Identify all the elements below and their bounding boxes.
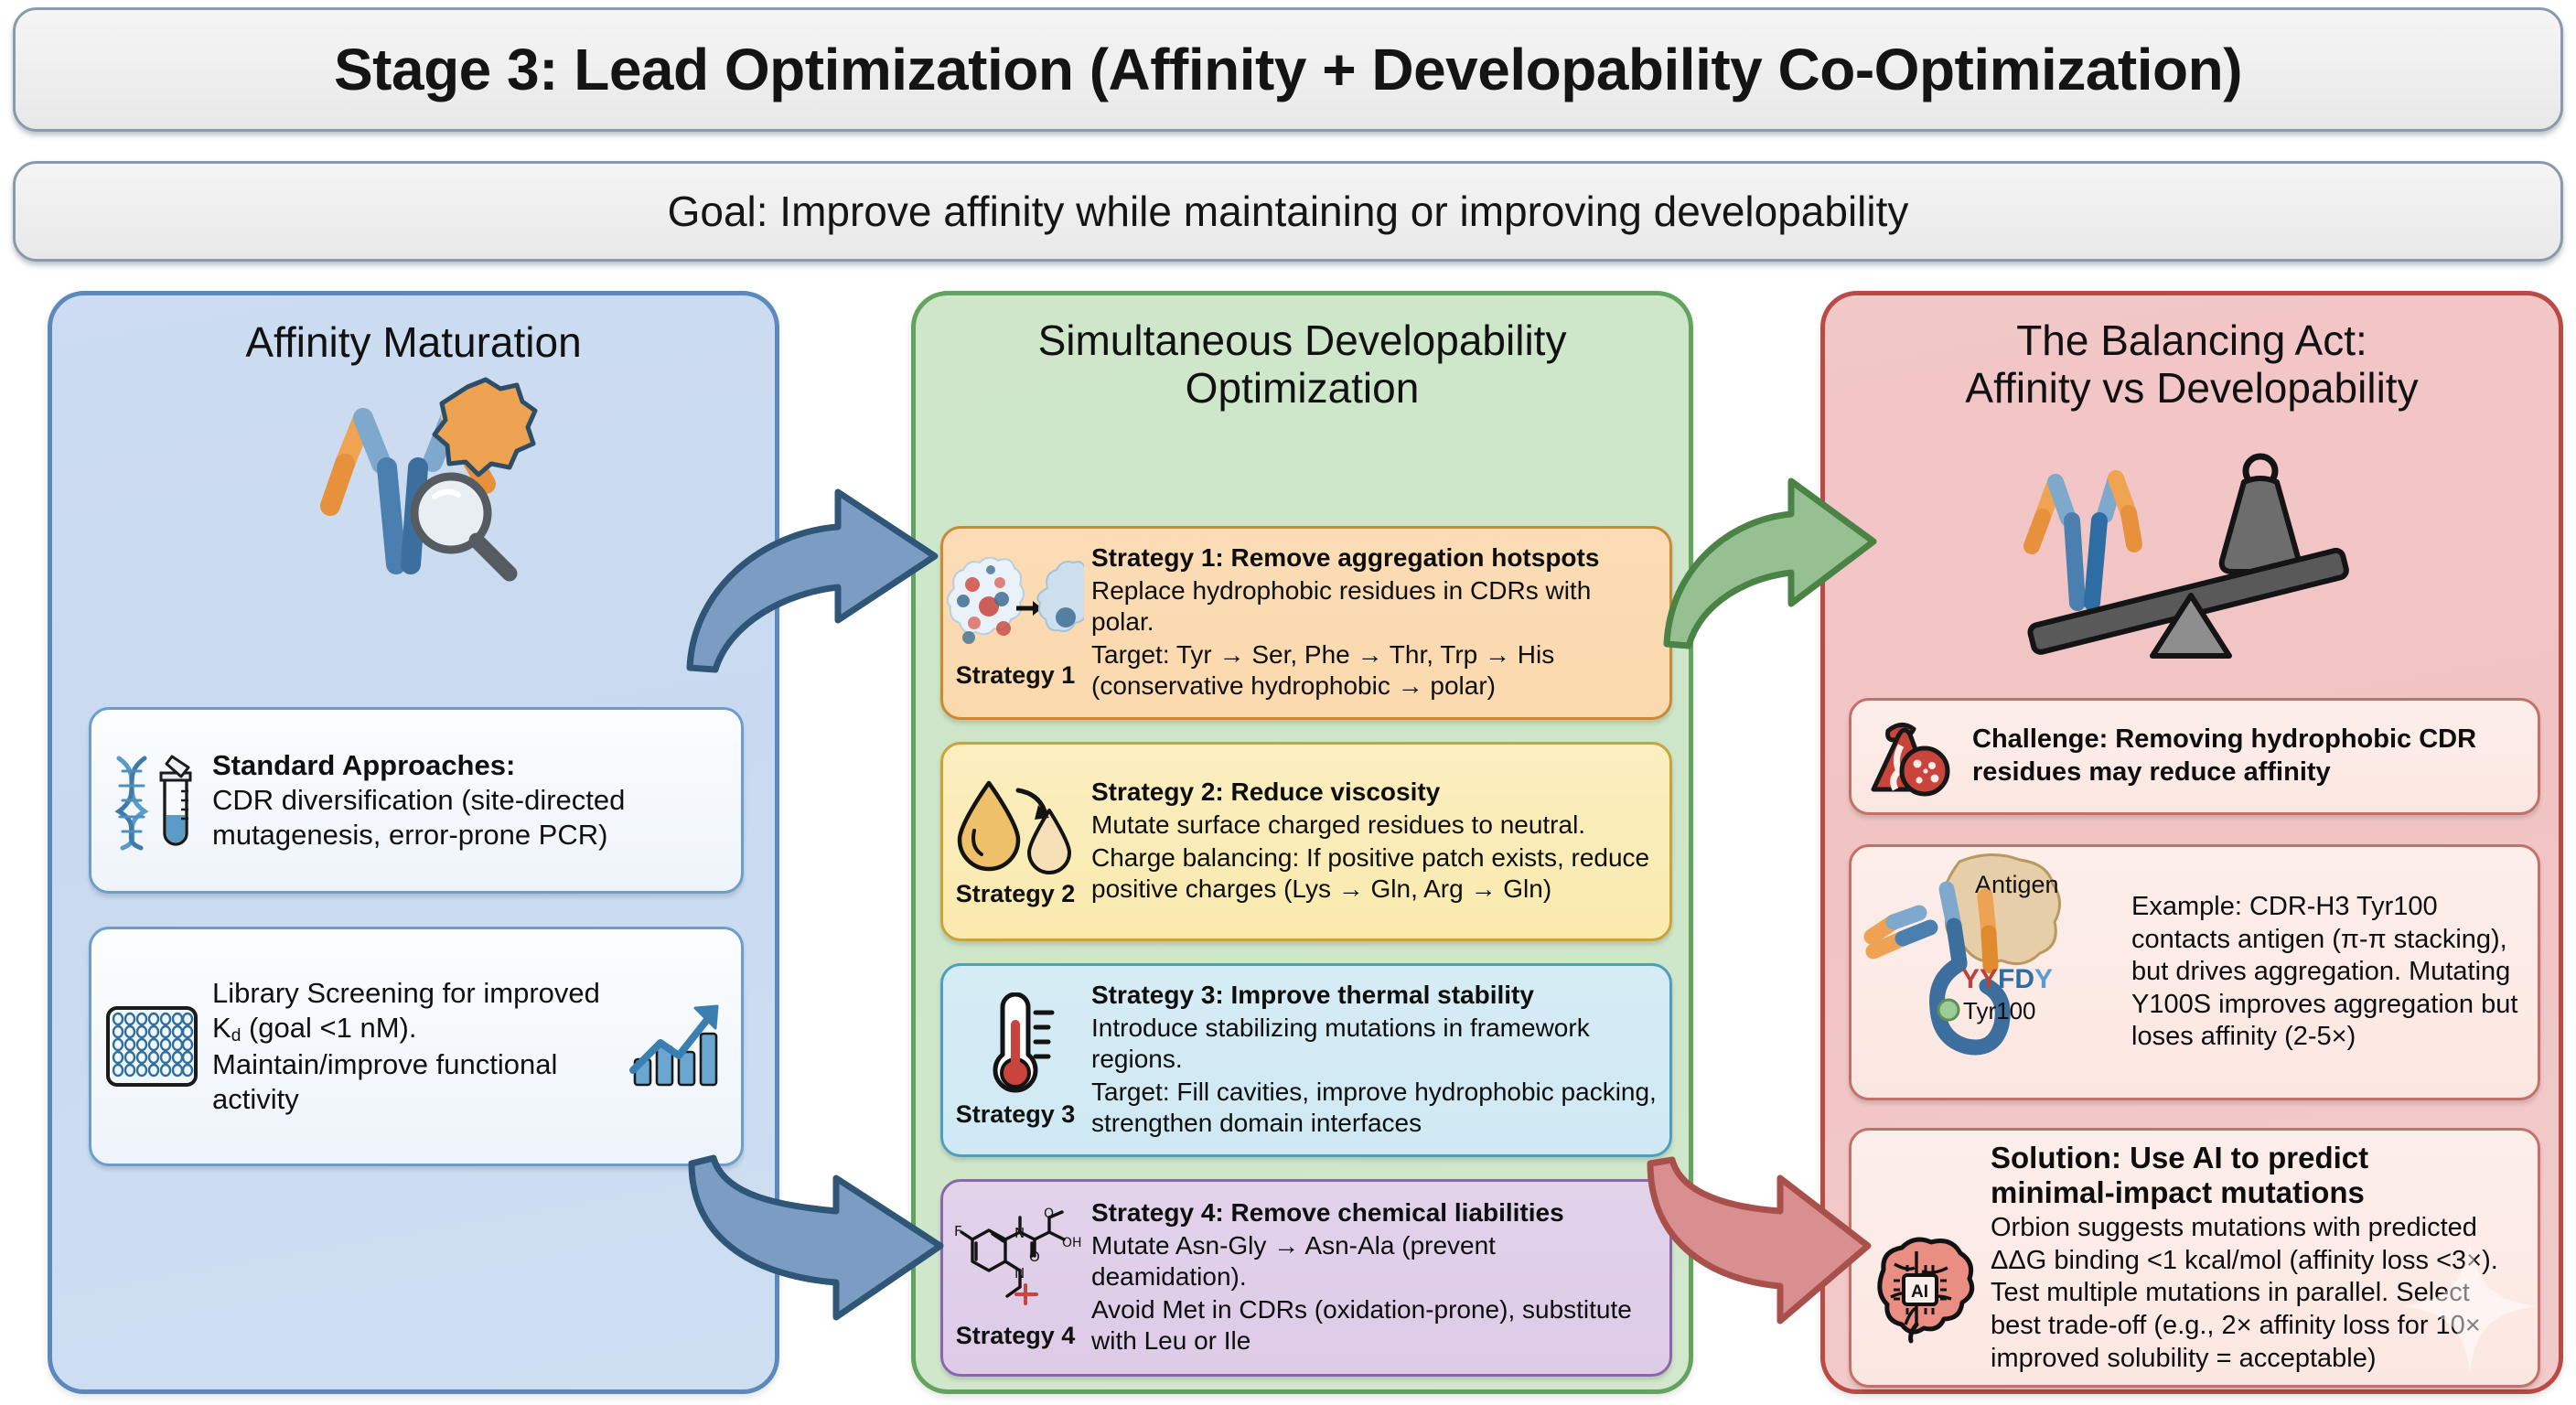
standard-approaches-line-1: CDR diversification (site-directed xyxy=(212,783,728,818)
column-title-developability-line-2: Optimization xyxy=(927,365,1678,413)
solution-heading-line-2: minimal-impact mutations xyxy=(1991,1175,2525,1210)
challenge-text: Challenge: Removing hydrophobic CDR resi… xyxy=(1972,724,2538,788)
viscosity-droplet-icon xyxy=(947,776,1084,878)
svg-text:YYFDY: YYFDY xyxy=(1961,964,2053,994)
card-strategy-1: Strategy 1 Strategy 1: Remove aggregatio… xyxy=(940,526,1672,720)
solution-text: Orbion suggests mutations with predicted… xyxy=(1991,1212,2525,1375)
strategy-3-heading: Strategy 3: Improve thermal stability xyxy=(1091,980,1657,1011)
strategy-1-label: Strategy 1 xyxy=(956,661,1076,690)
card-challenge: Challenge: Removing hydrophobic CDR resi… xyxy=(1849,698,2540,815)
dna-test-tube-icon xyxy=(104,749,199,852)
ai-brain-icon: AI xyxy=(1863,1237,1977,1345)
svg-text:Tyr100: Tyr100 xyxy=(1963,997,2036,1024)
strategy-2-body-1: Mutate surface charged residues to neutr… xyxy=(1091,810,1657,841)
strategy-3-body-2: Target: Fill cavities, improve hydrophob… xyxy=(1091,1077,1657,1139)
strategy-4-body-2: Avoid Met in CDRs (oxidation-prone), sub… xyxy=(1091,1294,1657,1357)
svg-text:N: N xyxy=(1014,1225,1025,1241)
library-screening-text-suffix: (goal <1 nM). Maintain/improve functiona… xyxy=(212,1012,557,1114)
strategy-1-body-1: Replace hydrophobic residues in CDRs wit… xyxy=(1091,575,1657,638)
card-example: Antigen Tyr100 xyxy=(1849,844,2540,1100)
card-strategy-2: Strategy 2 Strategy 2: Reduce viscosity … xyxy=(940,742,1672,941)
svg-text:OH: OH xyxy=(1062,1236,1082,1250)
strategy-1-heading: Strategy 1: Remove aggregation hotspots xyxy=(1091,542,1657,574)
solution-heading-line-1: Solution: Use AI to predict xyxy=(1991,1141,2525,1175)
strategy-2-body-2: Charge balancing: If positive patch exis… xyxy=(1091,842,1657,905)
goal-banner: Goal: Improve affinity while maintaining… xyxy=(13,161,2563,262)
standard-approaches-heading: Standard Approaches: xyxy=(212,748,728,783)
column-affinity-maturation: Affinity Maturation xyxy=(48,291,779,1394)
card-standard-approaches: Standard Approaches: CDR diversification… xyxy=(89,707,744,894)
goal-text: Goal: Improve affinity while maintaining… xyxy=(668,187,1909,236)
column-title-balancing-line-1: The Balancing Act: xyxy=(1836,317,2548,365)
card-solution: AI Solution: Use AI to predict minimal-i… xyxy=(1849,1128,2540,1388)
strategy-4-label: Strategy 4 xyxy=(956,1322,1076,1350)
standard-approaches-line-2: mutagenesis, error-prone PCR) xyxy=(212,818,728,853)
antibody-antigen-icon: Antigen Tyr100 xyxy=(1851,849,2126,1098)
card-strategy-3: Strategy 3 Strategy 3: Improve thermal s… xyxy=(940,963,1672,1157)
column-title-affinity: Affinity Maturation xyxy=(52,295,775,367)
card-strategy-4: F N N O O OH Strategy 4 Strategy 4: Remo… xyxy=(940,1179,1672,1377)
column-title-developability: Simultaneous Developability Optimization xyxy=(916,295,1689,412)
microplate-icon xyxy=(104,1003,199,1090)
strategy-4-heading: Strategy 4: Remove chemical liabilities xyxy=(1091,1197,1657,1228)
example-text: Example: CDR-H3 Tyr100 contacts antigen … xyxy=(2126,891,2538,1054)
strategy-3-body-1: Introduce stabilizing mutations in frame… xyxy=(1091,1013,1657,1075)
chemical-structure-icon: F N N O O OH xyxy=(947,1207,1084,1320)
strategy-1-body-2: Target: Tyr → Ser, Phe → Thr, Trp → His … xyxy=(1091,639,1657,702)
svg-text:O: O xyxy=(1029,1249,1040,1265)
library-screening-subscript: d xyxy=(231,1026,241,1046)
strategy-2-label: Strategy 2 xyxy=(956,880,1076,908)
growth-chart-icon xyxy=(626,999,728,1094)
strategy-4-body-1: Mutate Asn-Gly → Asn-Ala (prevent deamid… xyxy=(1091,1230,1657,1292)
page-title: Stage 3: Lead Optimization (Affinity + D… xyxy=(334,36,2242,103)
aggregation-mountain-icon xyxy=(1864,713,1959,800)
card-library-screening: Library Screening for improved Kd (goal … xyxy=(89,927,744,1166)
svg-text:F: F xyxy=(954,1223,962,1239)
column-developability-optimization: Simultaneous Developability Optimization xyxy=(911,291,1693,1394)
antibody-magnifier-icon xyxy=(297,376,544,586)
title-banner: Stage 3: Lead Optimization (Affinity + D… xyxy=(13,7,2563,132)
strategy-3-label: Strategy 3 xyxy=(956,1100,1076,1129)
column-balancing-act: The Balancing Act: Affinity vs Developab… xyxy=(1820,291,2563,1394)
svg-text:N: N xyxy=(1014,1265,1025,1282)
seesaw-antibody-weight-icon xyxy=(1971,422,2401,660)
column-title-balancing: The Balancing Act: Affinity vs Developab… xyxy=(1825,295,2559,412)
diagram-canvas: Stage 3: Lead Optimization (Affinity + D… xyxy=(0,0,2576,1405)
svg-text:AI: AI xyxy=(1911,1282,1928,1302)
svg-text:O: O xyxy=(1044,1207,1054,1221)
strategy-2-heading: Strategy 2: Reduce viscosity xyxy=(1091,777,1657,808)
column-title-balancing-line-2: Affinity vs Developability xyxy=(1836,365,2548,413)
column-title-developability-line-1: Simultaneous Developability xyxy=(927,317,1678,365)
protein-surface-hotspot-icon xyxy=(947,557,1084,660)
thermometer-icon xyxy=(961,992,1070,1099)
